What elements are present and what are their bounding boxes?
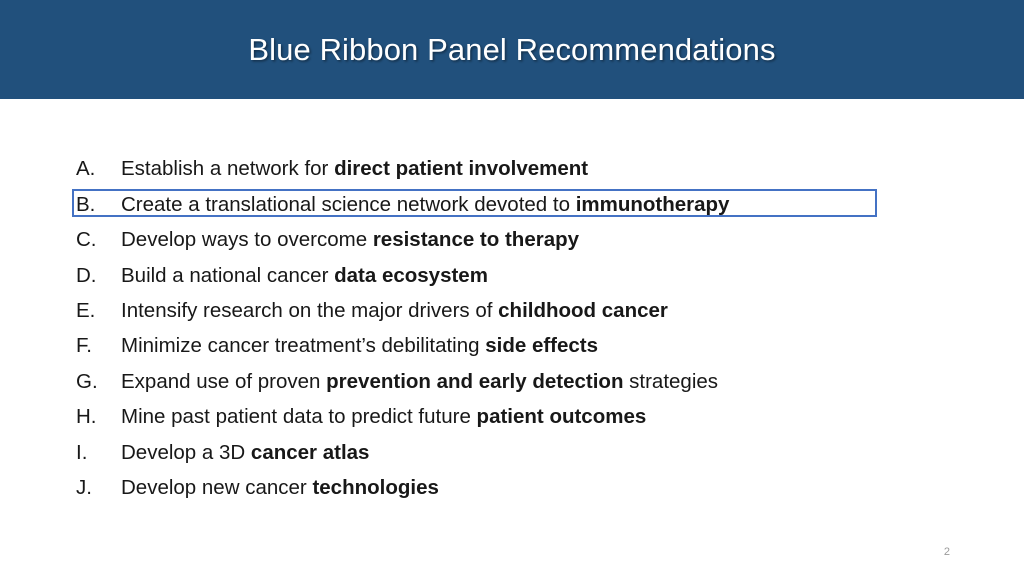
list-item-text-plain-before: Develop new cancer [121,476,312,499]
list-item[interactable]: C.Develop ways to overcome resistance to… [0,223,1024,258]
list-item-text: Build a national cancer data ecosystem [121,266,488,287]
list-item-text-emphasis: side effects [485,334,598,357]
list-item[interactable]: J.Develop new cancer technologies [0,471,1024,506]
list-item-text-plain-before: Mine past patient data to predict future [121,405,477,428]
list-item[interactable]: D.Build a national cancer data ecosystem [0,258,1024,293]
list-item-marker: I. [76,443,121,464]
list-item-text: Mine past patient data to predict future… [121,407,646,428]
list-item-marker: J. [76,478,121,499]
list-item-text-plain-before: Expand use of proven [121,370,326,393]
list-item-marker: E. [76,301,121,322]
list-item-marker: C. [76,230,121,251]
list-item-text-emphasis: patient outcomes [477,405,647,428]
list-item-text: Develop ways to overcome resistance to t… [121,230,579,251]
list-item-text: Establish a network for direct patient i… [121,159,588,180]
list-item-text-emphasis: immunotherapy [576,193,730,216]
list-item-marker: A. [76,159,121,180]
list-item-text-plain-before: Develop a 3D [121,441,251,464]
list-item[interactable]: I.Develop a 3D cancer atlas [0,435,1024,470]
list-item-text-emphasis: childhood cancer [498,299,668,322]
list-item-text: Intensify research on the major drivers … [121,301,668,322]
list-item-text-emphasis: resistance to therapy [373,228,579,251]
title-banner: Blue Ribbon Panel Recommendations [0,0,1024,99]
list-item-text: Expand use of proven prevention and earl… [121,372,718,393]
slide-title: Blue Ribbon Panel Recommendations [248,32,775,68]
list-item[interactable]: H.Mine past patient data to predict futu… [0,400,1024,435]
list-item-text-plain-before: Establish a network for [121,157,334,180]
slide-canvas: Blue Ribbon Panel Recommendations A.Esta… [0,0,1024,576]
list-item-marker: D. [76,266,121,287]
list-item-text-emphasis: data ecosystem [334,264,488,287]
list-item-text-emphasis: direct patient involvement [334,157,588,180]
list-item-text: Minimize cancer treatment’s debilitating… [121,336,598,357]
list-item[interactable]: F.Minimize cancer treatment’s debilitati… [0,329,1024,364]
list-item-text-emphasis: technologies [312,476,438,499]
list-item-text-plain-before: Develop ways to overcome [121,228,373,251]
list-item[interactable]: B.Create a translational science network… [0,187,1024,222]
recommendations-list: A.Establish a network for direct patient… [0,152,1024,506]
list-item-text-plain-before: Minimize cancer treatment’s debilitating [121,334,485,357]
list-item-text-emphasis: prevention and early detection [326,370,623,393]
list-item-marker: B. [76,195,121,216]
list-item-text-plain-after: strategies [623,370,718,393]
list-item[interactable]: A.Establish a network for direct patient… [0,152,1024,187]
list-item-marker: H. [76,407,121,428]
list-item-text-plain-before: Build a national cancer [121,264,334,287]
list-item-text-plain-before: Intensify research on the major drivers … [121,299,498,322]
list-item-text: Create a translational science network d… [121,195,729,216]
list-item-text: Develop a 3D cancer atlas [121,443,369,464]
list-item-text-plain-before: Create a translational science network d… [121,193,576,216]
list-item-text-emphasis: cancer atlas [251,441,370,464]
page-number: 2 [944,546,950,558]
list-item[interactable]: E.Intensify research on the major driver… [0,294,1024,329]
list-item[interactable]: G.Expand use of proven prevention and ea… [0,364,1024,399]
list-item-text: Develop new cancer technologies [121,478,439,499]
list-item-marker: G. [76,372,121,393]
list-item-marker: F. [76,336,121,357]
